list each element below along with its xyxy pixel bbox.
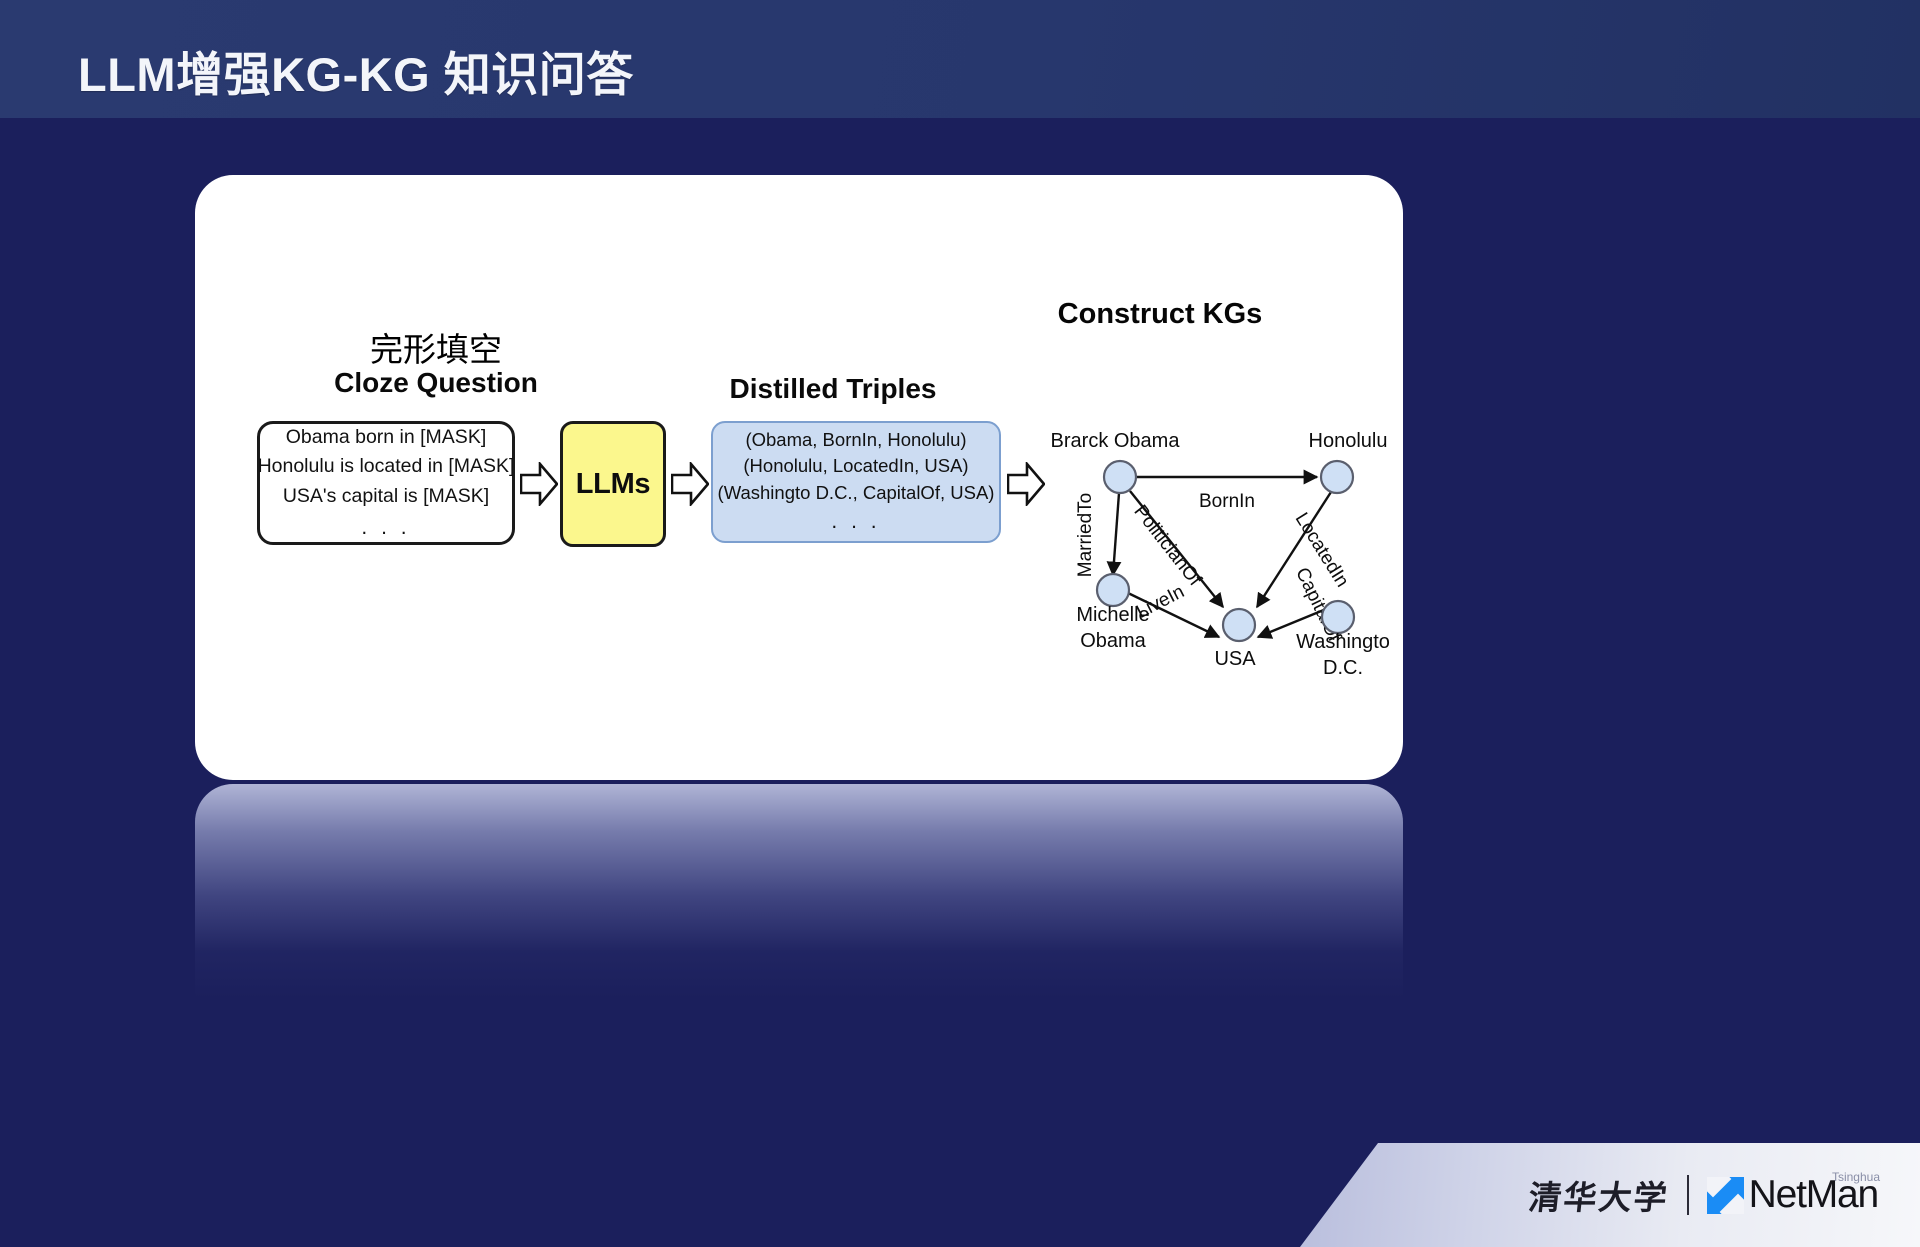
edge-marriedTo xyxy=(1113,493,1119,575)
triples-heading: Distilled Triples xyxy=(653,373,1013,405)
triple-ellipsis: . . . xyxy=(831,507,880,537)
kg-node-label-usa: USA xyxy=(1214,648,1256,670)
kg-node-label-michelle: Michelle Obama xyxy=(1038,603,1188,654)
netman-mark-icon xyxy=(1707,1177,1744,1214)
edge-label-bornIn: BornIn xyxy=(1199,491,1255,512)
kg-node-label-obama: Brarck Obama xyxy=(1051,430,1181,452)
kg-node-obama xyxy=(1104,461,1136,493)
arrow-llms-to-triples-icon xyxy=(671,462,709,506)
footer-logo-plate: 清华大学 NetMan Tsinghua xyxy=(1300,1143,1920,1247)
llms-box: LLMs xyxy=(560,421,666,547)
tsinghua-superscript: Tsinghua xyxy=(1832,1170,1880,1184)
cloze-line: USA's capital is [MASK] xyxy=(283,483,489,511)
kg-node-label-michelle-line1: Michelle xyxy=(1038,603,1188,629)
kg-node-honolulu xyxy=(1321,461,1353,493)
distilled-triples-box: (Obama, BornIn, Honolulu) (Honolulu, Loc… xyxy=(711,421,1001,543)
kg-node-usa xyxy=(1223,609,1255,641)
tsinghua-wordmark: 清华大学 xyxy=(1526,1171,1671,1219)
kg-heading: Construct KGs xyxy=(1010,298,1310,331)
card-reflection xyxy=(195,784,1403,999)
kg-node-label-michelle-line2: Obama xyxy=(1038,629,1188,655)
kg-node-label-honolulu: Honolulu xyxy=(1309,430,1388,452)
cloze-chinese-label: 完形填空 xyxy=(311,323,561,371)
pipeline-diagram: 完形填空 Cloze Question Obama born in [MASK]… xyxy=(195,175,1403,780)
netman-logo: NetMan Tsinghua xyxy=(1707,1173,1878,1217)
edge-label-politicianOf: PoliticianOf xyxy=(1129,501,1205,590)
llms-label: LLMs xyxy=(576,468,651,501)
kg-node-michelle xyxy=(1097,574,1129,606)
cloze-line: Honolulu is located in [MASK] xyxy=(258,453,515,481)
cloze-line: Obama born in [MASK] xyxy=(286,424,487,452)
kg-node-washington xyxy=(1322,601,1354,633)
cloze-heading: Cloze Question xyxy=(296,367,576,399)
cloze-ellipsis: . . . xyxy=(361,513,410,543)
edge-label-marriedTo: MarriedTo xyxy=(1075,493,1096,577)
logo-divider xyxy=(1687,1175,1689,1215)
page-title: LLM增强KG-KG 知识问答 xyxy=(78,36,634,105)
triple-line: (Obama, BornIn, Honolulu) xyxy=(745,427,966,454)
triple-line: (Honolulu, LocatedIn, USA) xyxy=(743,453,968,480)
arrow-cloze-to-llms-icon xyxy=(520,462,558,506)
kg-node-label-washington-line2: D.C. xyxy=(1263,656,1423,682)
kg-node-label-washington-line1: Washingto xyxy=(1263,630,1423,656)
kg-node-label-washington: Washingto D.C. xyxy=(1263,630,1423,681)
triple-line: (Washingto D.C., CapitalOf, USA) xyxy=(718,480,995,507)
cloze-question-box: Obama born in [MASK] Honolulu is located… xyxy=(257,421,515,545)
